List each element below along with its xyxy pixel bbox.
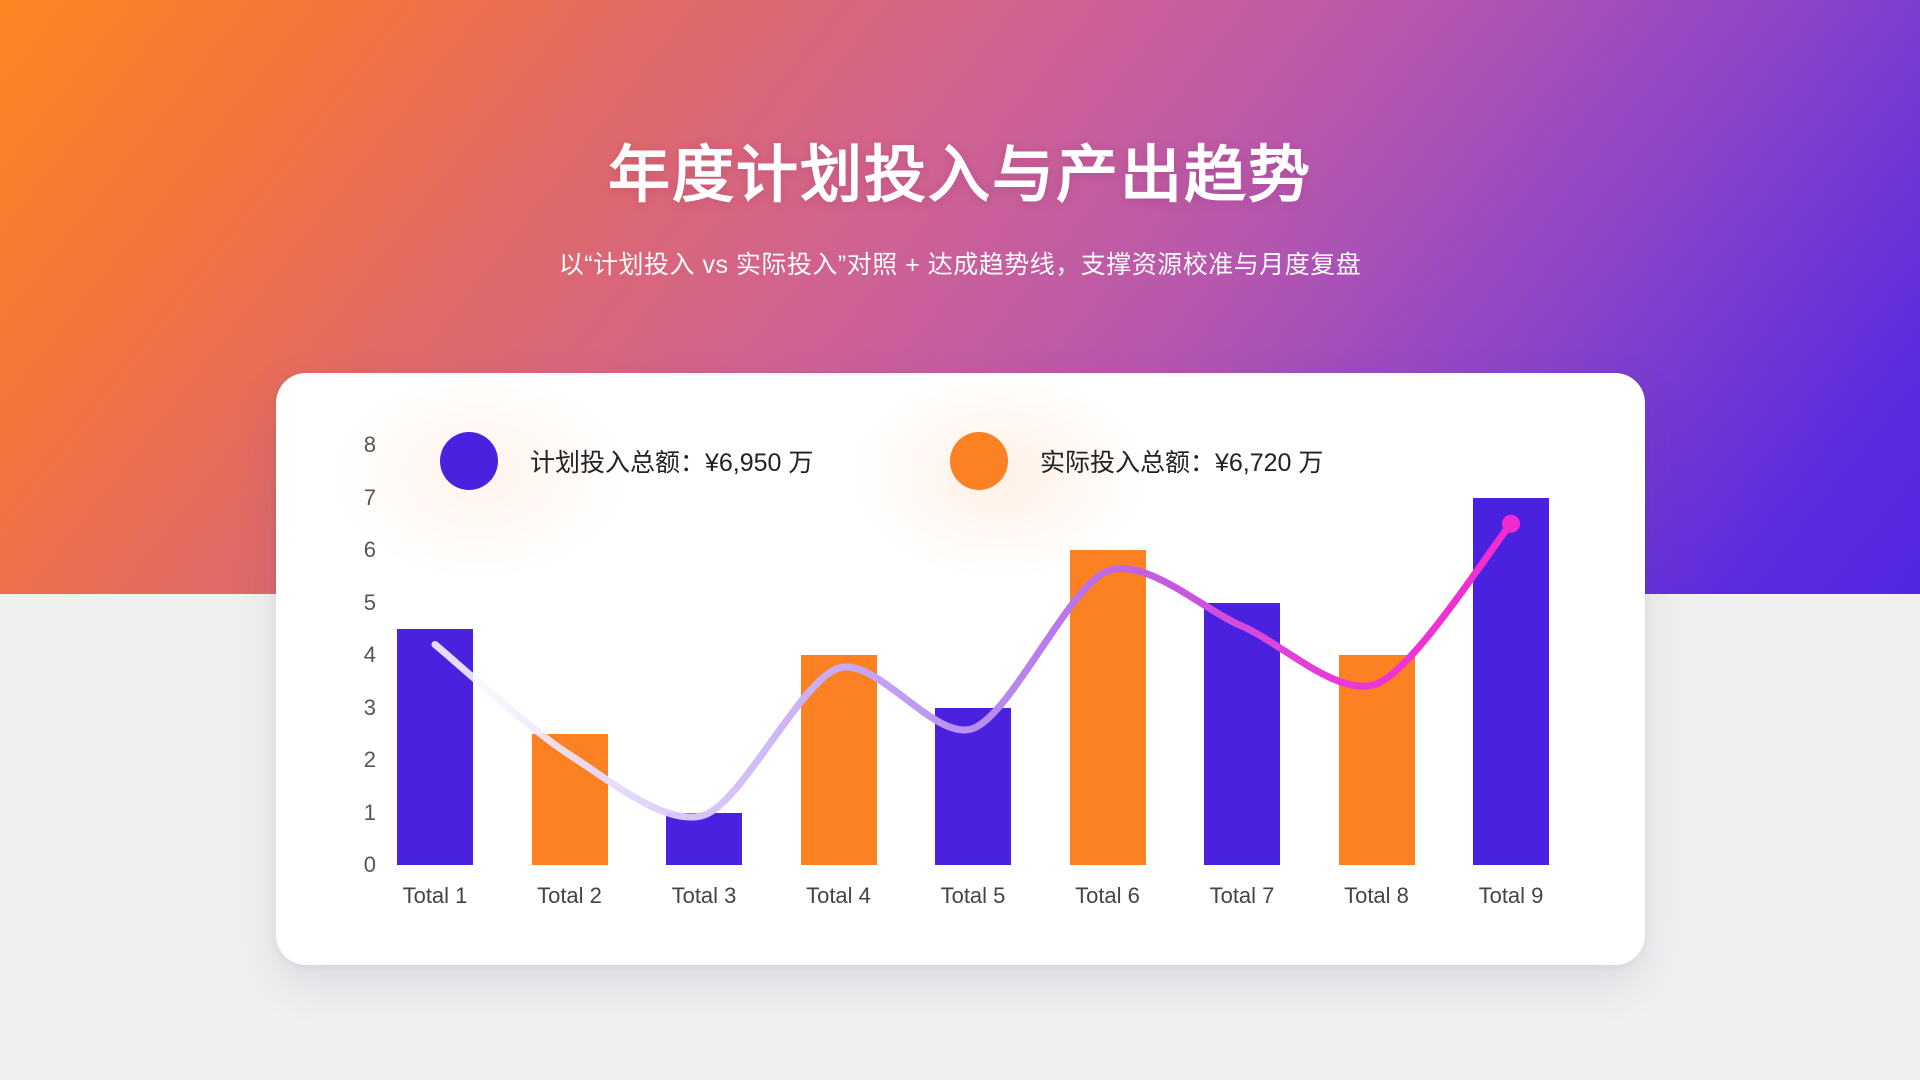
y-axis-tick-label: 1: [330, 802, 376, 824]
trend-line-end-marker[interactable]: [1502, 515, 1520, 533]
y-axis-tick-label: 3: [330, 697, 376, 719]
bar-3[interactable]: [666, 813, 742, 866]
x-axis-tick-label: Total 5: [903, 885, 1043, 907]
y-axis-tick-label: 5: [330, 592, 376, 614]
y-axis-tick-label: 4: [330, 644, 376, 666]
x-axis-tick-label: Total 1: [365, 885, 505, 907]
bar-9[interactable]: [1473, 498, 1549, 866]
x-axis-tick-label: Total 2: [500, 885, 640, 907]
x-axis-tick-label: Total 3: [634, 885, 774, 907]
y-axis-tick-label: 0: [330, 854, 376, 876]
x-axis-tick-label: Total 6: [1038, 885, 1178, 907]
chart-page: 年度计划投入与产出趋势 以“计划投入 vs 实际投入”对照 + 达成趋势线，支撑…: [0, 0, 1920, 1080]
x-axis-tick-label: Total 8: [1307, 885, 1447, 907]
x-axis-tick-label: Total 7: [1172, 885, 1312, 907]
y-axis-tick-label: 2: [330, 749, 376, 771]
x-axis-tick-label: Total 4: [769, 885, 909, 907]
x-axis-tick-label: Total 9: [1441, 885, 1581, 907]
trend-line-layer: [0, 0, 1369, 592]
